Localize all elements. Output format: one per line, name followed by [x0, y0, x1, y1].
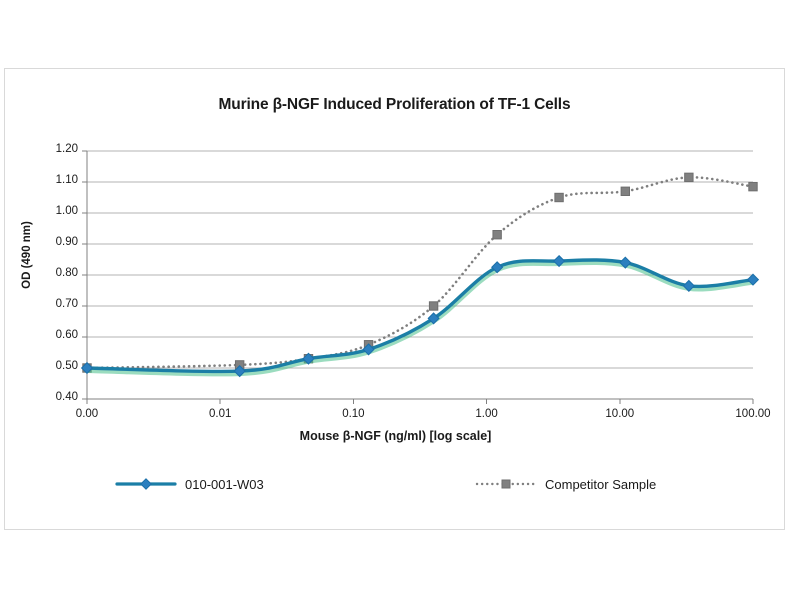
y-axis-tick-label: 0.70 [36, 298, 78, 310]
x-axis-tick-label: 0.10 [313, 408, 393, 420]
legend-entry[interactable]: Competitor Sample [475, 475, 656, 493]
y-axis-tick-label: 1.20 [36, 143, 78, 155]
y-axis-tick-label: 0.60 [36, 329, 78, 341]
legend-entry[interactable]: 010-001-W03 [115, 475, 264, 493]
legend-line-dotted-icon [475, 475, 537, 493]
chart-legend: 010-001-W03Competitor Sample [5, 467, 786, 513]
y-axis-tick-label: 1.00 [36, 205, 78, 217]
legend-line-solid-icon [115, 475, 177, 493]
x-axis-tick-label: 10.00 [580, 408, 660, 420]
figure-frame: Murine β-NGF Induced Proliferation of TF… [4, 68, 785, 530]
legend-label: 010-001-W03 [185, 477, 264, 492]
y-axis-tick-label: 0.80 [36, 267, 78, 279]
x-axis-label: Mouse β-NGF (ng/ml) [log scale] [5, 429, 786, 443]
plot-area: OD (490 nm) Mouse β-NGF (ng/ml) [log sca… [5, 69, 786, 531]
y-axis-tick-label: 0.50 [36, 360, 78, 372]
y-axis-tick-label: 0.90 [36, 236, 78, 248]
plot-svg [5, 69, 786, 531]
data-point-square [429, 302, 437, 310]
y-axis-tick-label: 0.40 [36, 391, 78, 403]
data-point-square [685, 173, 693, 181]
legend-label: Competitor Sample [545, 477, 656, 492]
x-axis-tick-label: 100.00 [713, 408, 793, 420]
x-axis-tick-label: 0.00 [47, 408, 127, 420]
data-point-square [749, 182, 757, 190]
x-axis-tick-label: 0.01 [180, 408, 260, 420]
y-axis-tick-label: 1.10 [36, 174, 78, 186]
data-point-square [555, 193, 563, 201]
y-axis-label: OD (490 nm) [21, 195, 33, 315]
data-point-square [621, 187, 629, 195]
x-axis-tick-label: 1.00 [447, 408, 527, 420]
data-point-square [493, 231, 501, 239]
